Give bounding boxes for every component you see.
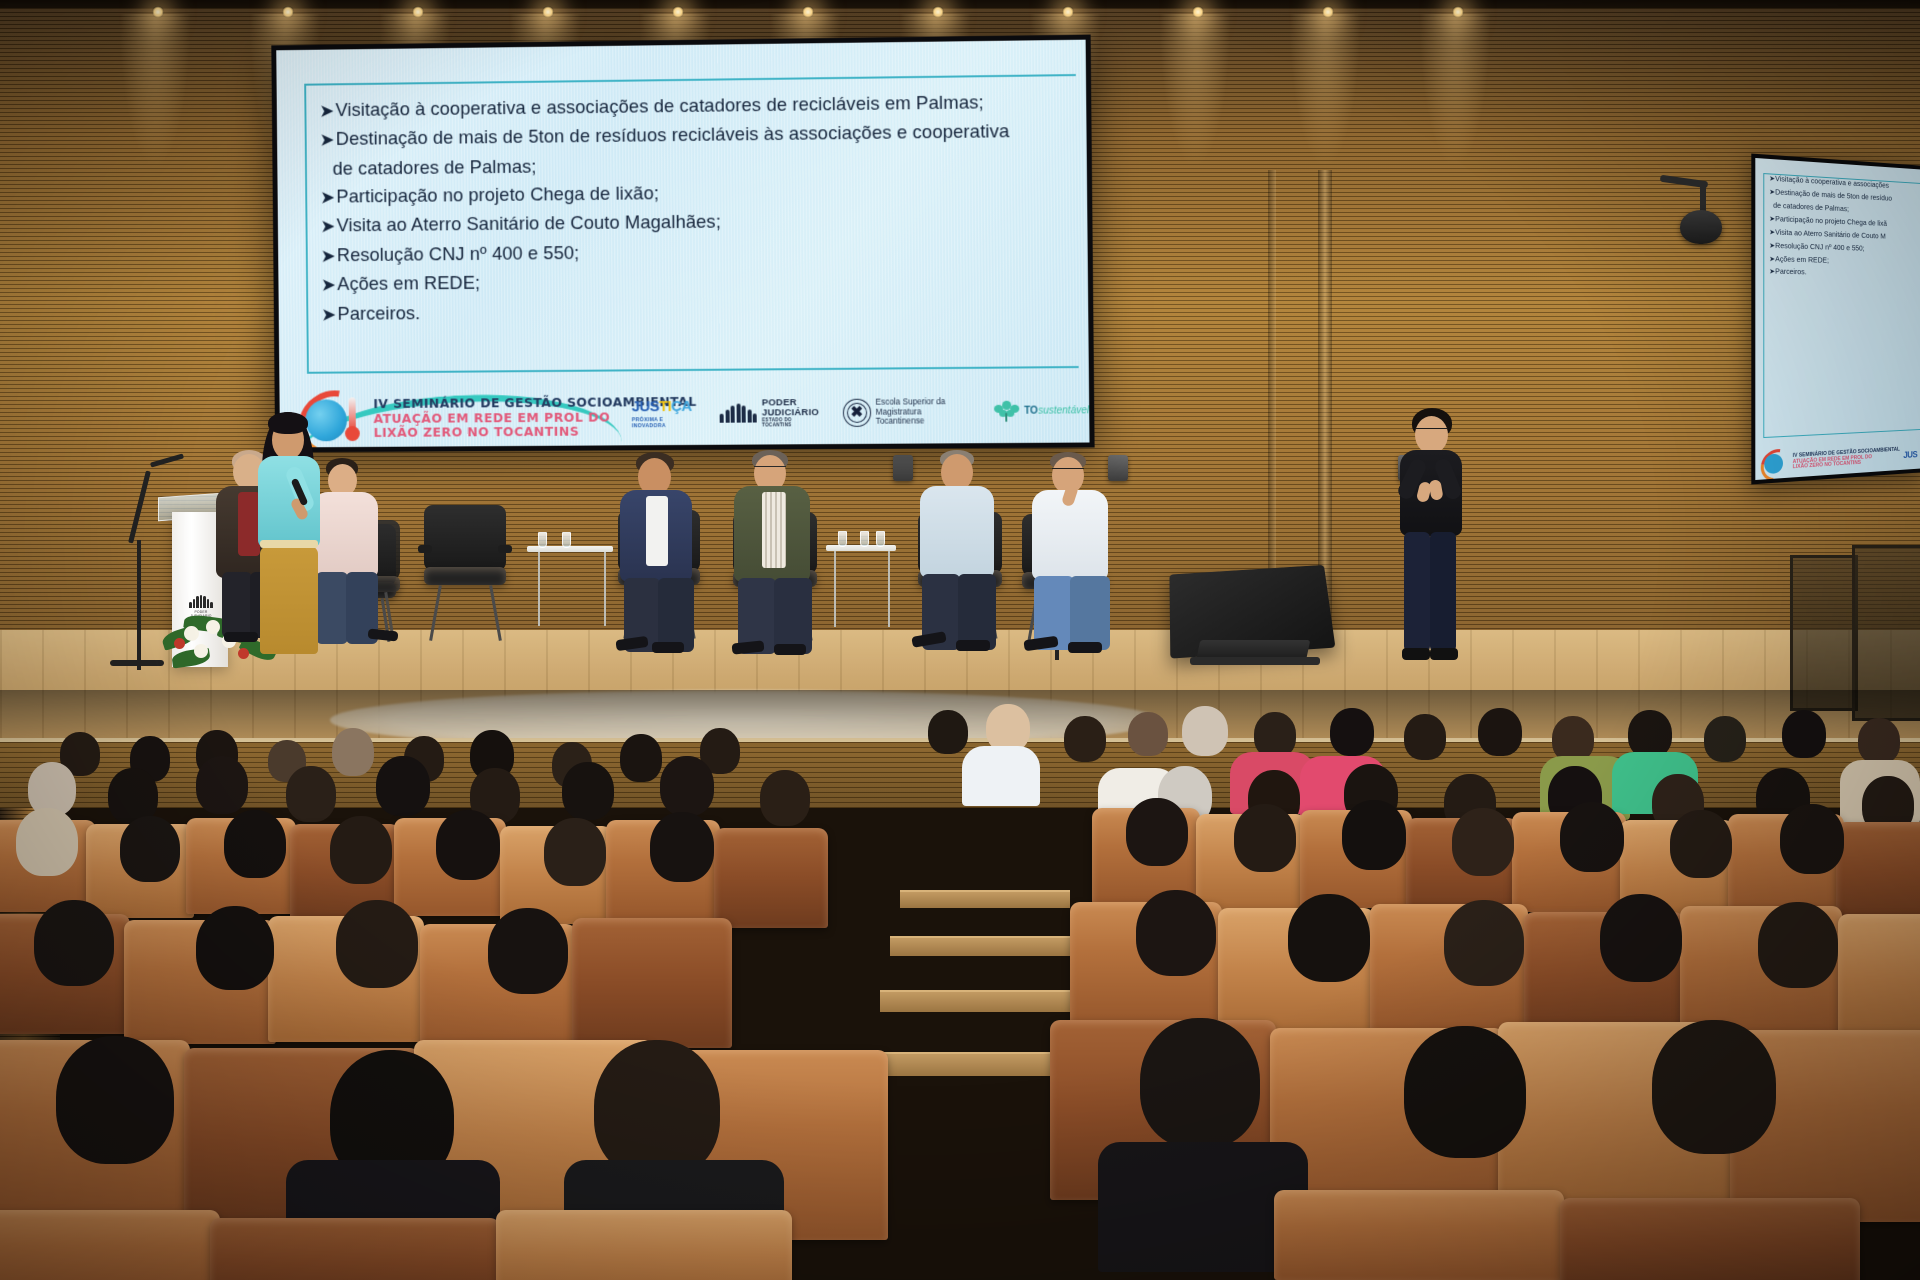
slide-bullet: ➤Resolução CNJ nº 400 e 550;	[322, 237, 1078, 267]
audience-head	[224, 810, 286, 878]
to-suffix: sustentável	[1038, 405, 1089, 416]
slide-bullet-continuation: de catadores de Palmas;	[333, 149, 1077, 178]
audience-head	[16, 808, 78, 876]
aisle-step	[890, 936, 1076, 956]
projection-surface: ➤Visitação à cooperativa e associações d…	[276, 40, 1089, 448]
slide-bullet: ➤Visitação à cooperativa e associações d…	[320, 90, 1076, 121]
secondary-partner-mark: JUS	[1903, 449, 1917, 460]
audience-head	[196, 756, 248, 814]
audience-seat[interactable]	[572, 918, 732, 1048]
main-projection-screen[interactable]: ➤Visitação à cooperativa e associações d…	[271, 35, 1094, 453]
aisle-step	[900, 890, 1070, 908]
slide-content-box: ➤Visitação à cooperativa e associações d…	[304, 74, 1078, 374]
esma-line2: Magistratura Tocantinense	[876, 407, 971, 427]
audience-seat[interactable]	[714, 828, 828, 928]
justica-word1: JUS	[632, 398, 659, 415]
audience-head	[1404, 1026, 1526, 1158]
audience-head	[1234, 804, 1296, 872]
slide-bullet: ➤Visita ao Aterro Sanitário de Couto Mag…	[321, 207, 1077, 237]
seated-audience	[0, 690, 1920, 1280]
microphone-stand-left	[137, 540, 141, 670]
partner-logo-row: JUSTIÇA PRÓXIMA E INOVADORA PODER JUDICI…	[632, 395, 1090, 429]
audience-seat[interactable]	[1836, 822, 1920, 924]
microphone-base-left	[110, 660, 164, 666]
audience-head	[332, 728, 374, 776]
audience-head	[620, 734, 662, 782]
poder-judiciario-logo: PODER JUDICIÁRIO ESTADO DO TOCANTINS	[720, 398, 821, 428]
light-beam	[1290, 14, 1360, 164]
audience-head	[286, 766, 336, 822]
water-glass	[860, 531, 869, 547]
escola-superior-magistratura-logo: ✖ Escola Superior da Magistratura Tocant…	[843, 397, 971, 427]
audience-head	[1342, 800, 1406, 870]
justica-proxima-logo: JUSTIÇA PRÓXIMA E INOVADORA	[632, 398, 698, 429]
slide-bullet: ➤Parceiros.	[322, 296, 1078, 325]
wall-speaker	[1108, 455, 1128, 481]
slide-bullet: ➤Destinação de mais de 5ton de resíduos …	[320, 120, 1076, 151]
audience-head	[1478, 708, 1522, 756]
audience-head	[1404, 714, 1446, 760]
bullet-arrow-icon: ➤	[321, 190, 335, 207]
slide-bullet: ➤Participação no projeto Chega de lixão;	[321, 178, 1077, 208]
water-glass	[538, 532, 547, 548]
glass-partition-panel	[1790, 555, 1858, 711]
secondary-event-emblem-icon	[1759, 447, 1789, 480]
water-glass	[562, 532, 571, 548]
light-beam	[120, 14, 190, 164]
secondary-bullet-text: Parceiros.	[1775, 267, 1806, 277]
justica-tagline: PRÓXIMA E INOVADORA	[632, 417, 698, 429]
bullet-text: Visita ao Aterro Sanitário de Couto Maga…	[337, 211, 721, 236]
esma-line1: Escola Superior da	[876, 397, 971, 408]
justica-word2: TI	[659, 398, 671, 415]
bullet-text: Visitação à cooperativa e associações de…	[335, 91, 983, 120]
slide-bullet: ➤Ações em REDE;	[322, 266, 1078, 295]
secondary-bullet-text: Visita ao Aterro Sanitário de Couto M	[1775, 227, 1886, 240]
secondary-bullet: ➤Visita ao Aterro Sanitário de Couto M	[1769, 228, 1920, 242]
audience-head	[650, 812, 714, 882]
secondary-bullet-text: Resolução CNJ nº 400 e 550;	[1775, 240, 1864, 252]
side-table-right-legs	[834, 551, 890, 627]
audience-head	[34, 900, 114, 986]
magistrature-seal-icon: ✖	[843, 398, 871, 426]
audience-head	[1182, 706, 1228, 756]
justica-word3: ÇA	[671, 398, 692, 415]
bullet-arrow-icon: ➤	[320, 132, 334, 149]
audience-head	[196, 906, 274, 990]
light-beam	[1160, 14, 1230, 164]
bullet-arrow-icon: ➤	[321, 219, 335, 236]
audience-head	[436, 810, 500, 880]
tree-icon	[993, 400, 1019, 422]
slide-footer-logo-band: IV SEMINÁRIO DE GESTÃO SOCIOAMBIENTAL AT…	[279, 366, 1089, 447]
audience-head	[1140, 1018, 1260, 1148]
audience-seat[interactable]	[0, 1210, 220, 1280]
water-glass	[838, 531, 847, 547]
audience-head	[1288, 894, 1370, 982]
audience-head	[1600, 894, 1682, 982]
audience-head	[986, 704, 1030, 752]
secondary-bullet-text: Ações em REDE;	[1775, 254, 1829, 265]
secondary-bullet-text: Participação no projeto Chega de lixã	[1775, 214, 1887, 228]
to-prefix: TO	[1024, 405, 1038, 416]
audience-seat[interactable]	[496, 1210, 792, 1280]
judiciary-line2: JUDICIÁRIO	[762, 408, 821, 418]
audience-head	[488, 908, 568, 994]
water-glass	[876, 531, 885, 547]
audience-head	[1136, 890, 1216, 976]
audience-head	[1128, 712, 1168, 756]
audience-head	[660, 756, 714, 816]
secondary-slide-box: ➤Visitação à cooperativa e associações ➤…	[1763, 173, 1920, 438]
bullet-text: Resolução CNJ nº 400 e 550;	[337, 242, 580, 265]
bullet-text: Ações em REDE;	[337, 272, 480, 294]
aisle-step	[880, 990, 1082, 1012]
monitor-base	[1190, 657, 1320, 665]
eyeglasses-icon	[1052, 468, 1084, 475]
secondary-bullet: ➤Resolução CNJ nº 400 e 550;	[1769, 241, 1920, 254]
secondary-bullet-text: Destinação de mais de 5ton de resíduo	[1775, 187, 1892, 203]
audience-head	[56, 1036, 174, 1164]
audience-head	[1758, 902, 1838, 988]
wall-speaker	[893, 455, 913, 481]
audience-head	[562, 762, 614, 820]
audience-head	[330, 816, 392, 884]
audience-head	[376, 756, 430, 816]
judiciary-line3: ESTADO DO TOCANTINS	[762, 417, 821, 427]
secondary-event-branding: IV SEMINÁRIO DE GESTÃO SOCIOAMBIENTAL AT…	[1793, 447, 1900, 471]
eyeglasses-icon	[754, 466, 786, 473]
audience-head	[336, 900, 418, 988]
audience-head	[1064, 716, 1106, 762]
audience-head	[1782, 710, 1826, 758]
bullet-text: Participação no projeto Chega de lixão;	[336, 182, 659, 206]
audience-head	[544, 818, 606, 886]
eyeglasses-icon	[1415, 428, 1448, 436]
audience-head	[1330, 708, 1374, 756]
audience-head	[1704, 716, 1746, 762]
audience-head	[1858, 718, 1900, 764]
bullet-arrow-icon: ➤	[322, 277, 336, 294]
audience-head	[594, 1040, 720, 1178]
bullet-text: Destinação de mais de 5ton de resíduos r…	[336, 121, 1010, 150]
belt	[260, 540, 318, 548]
secondary-display-right[interactable]: ➤Visitação à cooperativa e associações ➤…	[1751, 154, 1920, 485]
secondary-projection-surface: ➤Visitação à cooperativa e associações ➤…	[1755, 158, 1920, 480]
bullet-text: Parceiros.	[337, 302, 420, 324]
audience-head	[1780, 804, 1844, 874]
audience-body	[962, 746, 1040, 806]
to-sustentavel-logo: TOsustentável	[993, 400, 1090, 423]
audience-head	[928, 710, 968, 754]
audience-seat[interactable]	[1560, 1198, 1860, 1280]
secondary-bullet: ➤Parceiros.	[1769, 268, 1920, 279]
audience-head	[760, 770, 810, 826]
judiciary-building-icon	[720, 403, 757, 422]
audience-seat[interactable]	[1274, 1190, 1564, 1280]
ptz-camera-icon	[1680, 210, 1722, 244]
audience-head	[1652, 1020, 1776, 1154]
audience-head	[1628, 710, 1672, 758]
audience-head	[1444, 900, 1524, 986]
audience-seat[interactable]	[210, 1218, 500, 1280]
audience-head	[1670, 810, 1732, 878]
bullet-arrow-icon: ➤	[322, 306, 336, 323]
auditorium-photo-scene: ➤Visitação à cooperativa e associações d…	[0, 0, 1920, 1280]
audience-head	[1560, 802, 1624, 872]
light-beam	[1420, 14, 1490, 164]
secondary-bullet: ➤Ações em REDE;	[1769, 254, 1920, 266]
bullet-arrow-icon: ➤	[320, 103, 334, 120]
audience-head	[1452, 808, 1514, 876]
audience-seat[interactable]	[1838, 914, 1920, 1046]
secondary-slide-footer: IV SEMINÁRIO DE GESTÃO SOCIOAMBIENTAL AT…	[1755, 428, 1920, 480]
side-table-left-legs	[538, 552, 606, 626]
empty-chair[interactable]	[424, 505, 506, 640]
bullet-arrow-icon: ➤	[322, 248, 336, 265]
audience-head	[120, 816, 180, 882]
audience-head	[1126, 798, 1188, 866]
